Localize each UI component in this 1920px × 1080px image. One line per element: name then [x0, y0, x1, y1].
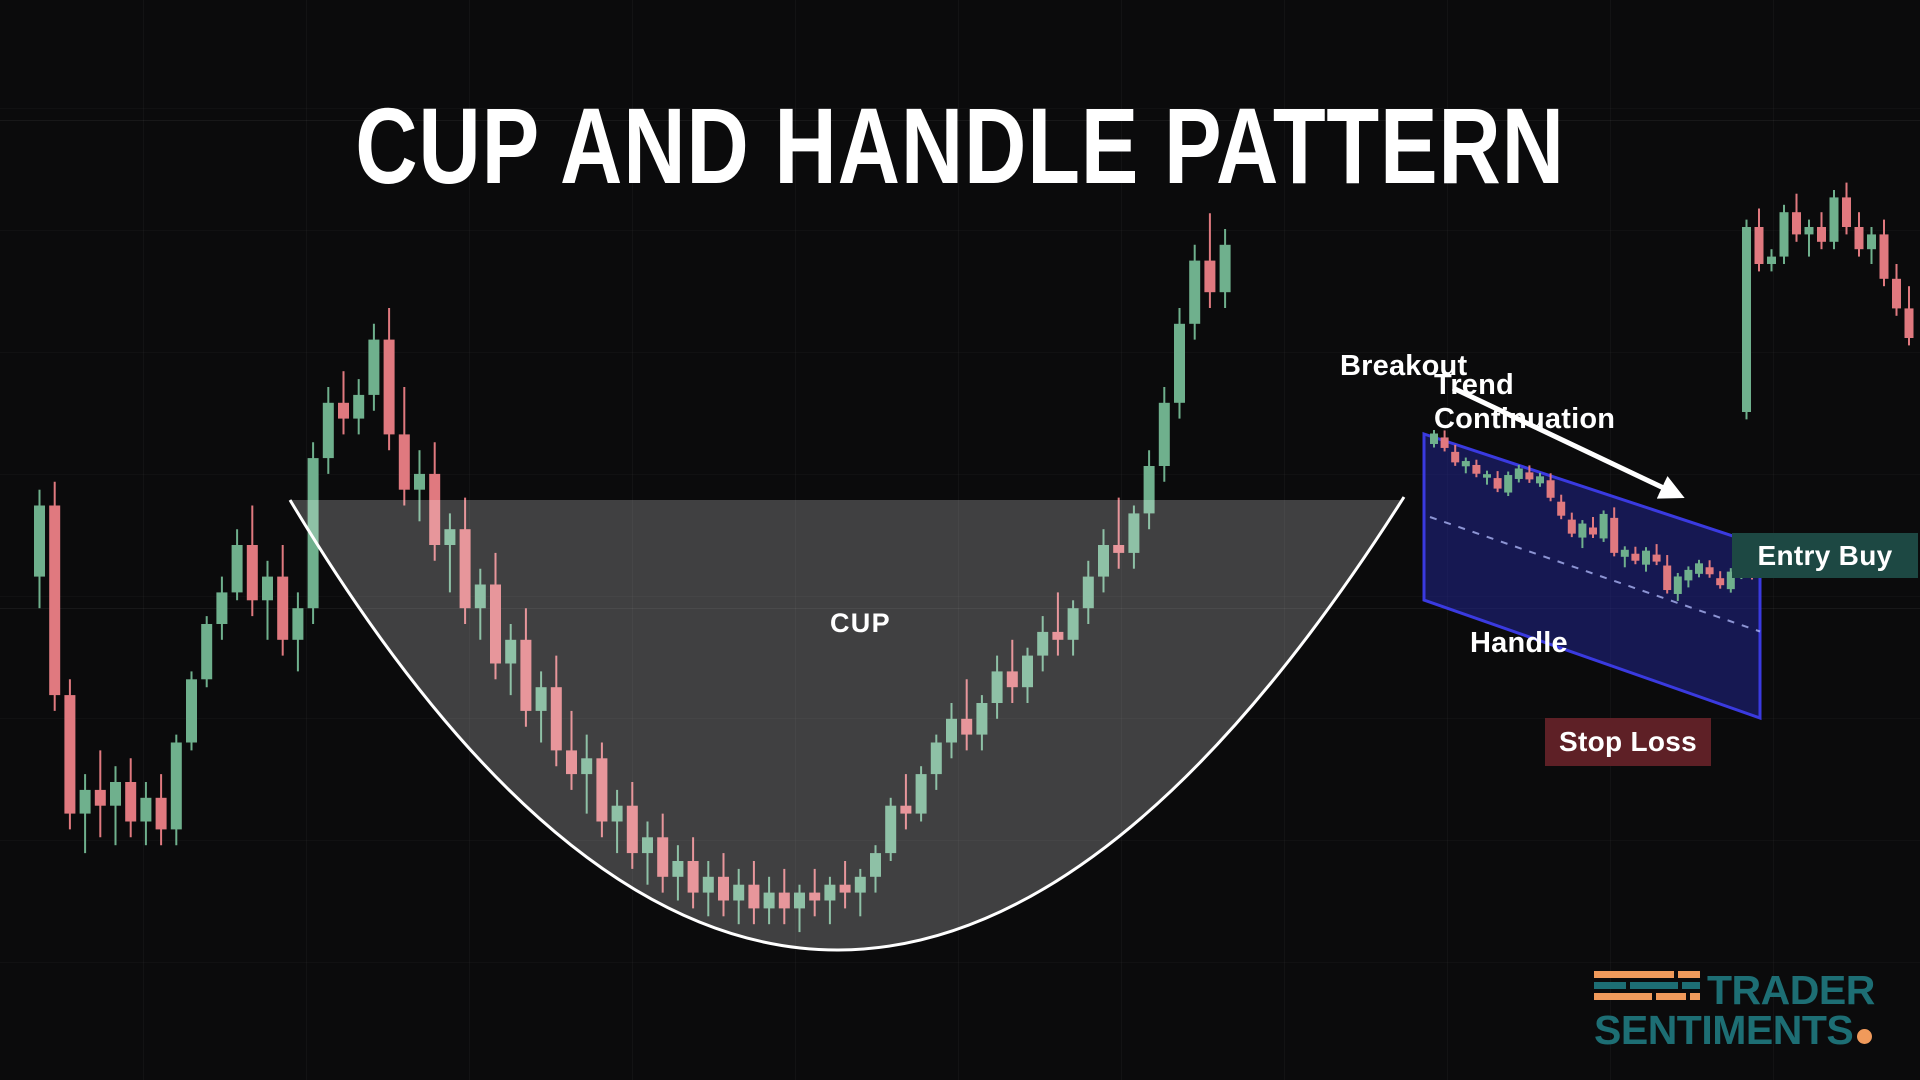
entry-buy-badge: Entry Buy — [1732, 533, 1918, 578]
brand-logo: TRADER SENTIMENTS — [1594, 968, 1894, 1056]
page-title: CUP AND HANDLE PATTERN — [192, 92, 1728, 200]
stop-loss-badge: Stop Loss — [1545, 718, 1711, 766]
logo-line-1: TRADER — [1707, 970, 1875, 1010]
infographic-canvas: CUP AND HANDLE PATTERN Breakout Trend Co… — [0, 0, 1920, 1080]
logo-line-2: SENTIMENTS — [1594, 1009, 1853, 1051]
cup-overlay — [290, 497, 1404, 950]
logo-dot — [1857, 1029, 1872, 1044]
trend-continuation-label: Trend Continuation — [1434, 368, 1615, 436]
cup-label: CUP — [830, 608, 891, 640]
trend-candles — [1742, 183, 1914, 420]
handle-label: Handle — [1470, 626, 1568, 660]
bars-icon — [1594, 969, 1700, 1011]
